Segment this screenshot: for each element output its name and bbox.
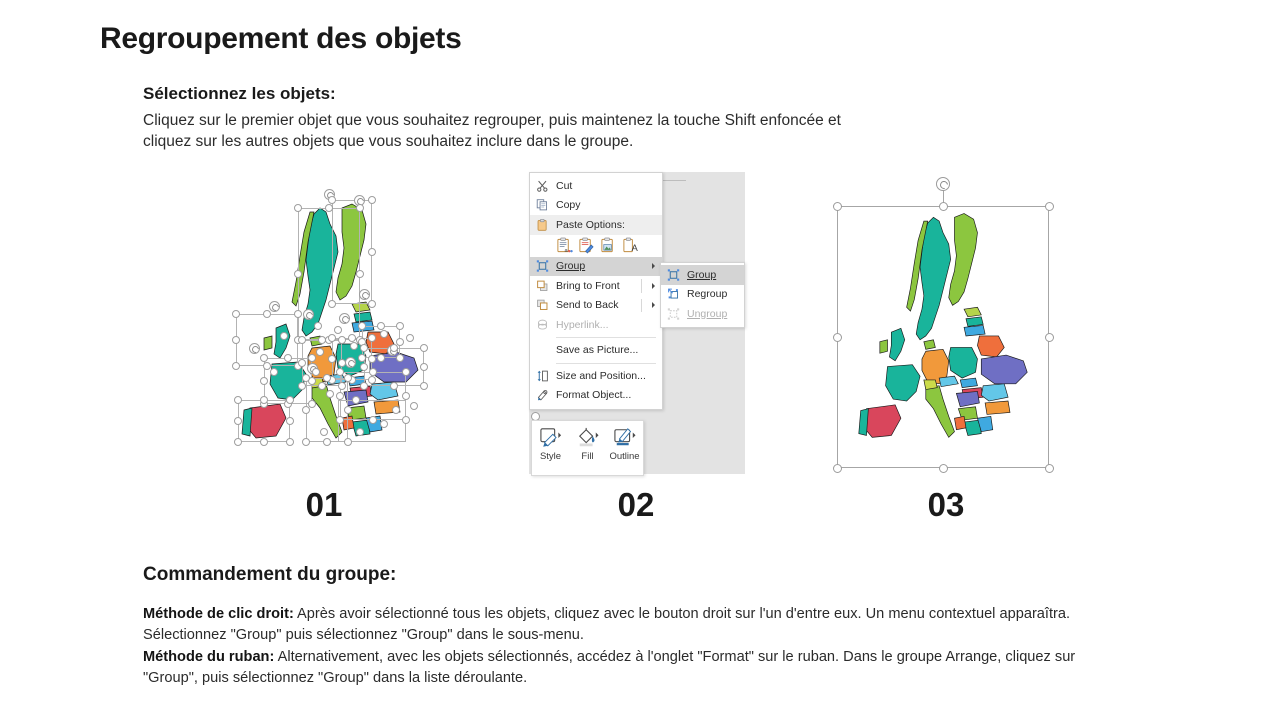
- selection-handle[interactable]: [356, 270, 364, 278]
- selection-handle[interactable]: [356, 204, 364, 212]
- selection-handle[interactable]: [334, 326, 342, 334]
- context-menu[interactable]: Cut Copy Paste: [529, 172, 663, 410]
- rotation-handle[interactable]: [269, 301, 280, 312]
- selection-handle[interactable]: [260, 396, 268, 404]
- mini-toolbar-style-button[interactable]: Style: [534, 426, 568, 462]
- step-number-03: 03: [906, 486, 986, 524]
- method-right-click-paragraph: Méthode de clic droit: Après avoir sélec…: [143, 604, 1118, 647]
- selection-handle[interactable]: [232, 310, 240, 318]
- selection-handle[interactable]: [402, 392, 410, 400]
- selection-handle[interactable]: [232, 362, 240, 370]
- selection-handle-bottom-right[interactable]: [1045, 464, 1054, 473]
- selection-handle[interactable]: [368, 248, 376, 256]
- method-ribbon-paragraph: Méthode du ruban: Alternativement, avec …: [143, 647, 1118, 690]
- selection-handle[interactable]: [260, 438, 268, 446]
- menu-separator: [556, 363, 656, 364]
- selection-handle[interactable]: [318, 382, 326, 390]
- selection-handle[interactable]: [420, 363, 428, 371]
- selection-handle[interactable]: [380, 330, 388, 338]
- menu-item-size-and-position[interactable]: Size and Position...: [530, 366, 662, 386]
- selection-handle[interactable]: [312, 368, 320, 376]
- method-block: Méthode de clic droit: Après avoir sélec…: [143, 604, 1118, 690]
- submenu-arrow-icon: [652, 302, 655, 308]
- selection-handle[interactable]: [420, 344, 428, 352]
- selection-handle-bottom-center[interactable]: [939, 464, 948, 473]
- selection-handle[interactable]: [302, 438, 310, 446]
- method-ribbon-text: Alternativement, avec les objets sélecti…: [143, 649, 1075, 686]
- menu-item-label: Save as Picture...: [556, 344, 638, 356]
- selection-handle[interactable]: [314, 322, 322, 330]
- submenu-item-regroup[interactable]: Regroup: [661, 285, 744, 305]
- paste-use-destination-theme-icon[interactable]: a: [556, 237, 573, 254]
- selection-handle-top-left[interactable]: [833, 202, 842, 211]
- selection-handle[interactable]: [352, 396, 360, 404]
- selection-handle[interactable]: [402, 416, 410, 424]
- bring-front-icon: [535, 278, 550, 293]
- selection-handle[interactable]: [360, 382, 368, 390]
- selection-handle[interactable]: [280, 332, 288, 340]
- menu-item-label: Hyperlink...: [556, 319, 609, 331]
- method-right-click-label: Méthode de clic droit:: [143, 606, 294, 622]
- selection-handle[interactable]: [260, 354, 268, 362]
- selection-handle[interactable]: [344, 374, 352, 382]
- selection-handle[interactable]: [368, 376, 376, 384]
- selection-handle[interactable]: [294, 270, 302, 278]
- selection-handle[interactable]: [410, 402, 418, 410]
- selection-handle[interactable]: [328, 334, 336, 342]
- selection-handle[interactable]: [338, 359, 346, 367]
- submenu-item-label: Ungroup: [687, 308, 727, 320]
- menu-item-label: Group: [556, 260, 585, 272]
- menu-item-format-object[interactable]: Format Object...: [530, 386, 662, 406]
- selection-handle[interactable]: [356, 428, 364, 436]
- selection-handle[interactable]: [368, 196, 376, 204]
- selection-handle[interactable]: [420, 382, 428, 390]
- menu-item-group[interactable]: Group: [530, 257, 662, 277]
- rotation-handle[interactable]: [359, 289, 370, 300]
- menu-item-label: Cut: [556, 180, 572, 192]
- step-01-ungrouped-map-panel[interactable]: [214, 186, 446, 476]
- selection-handle[interactable]: [284, 354, 292, 362]
- selection-handle[interactable]: [286, 438, 294, 446]
- selection-handle[interactable]: [390, 382, 398, 390]
- selection-handle[interactable]: [406, 334, 414, 342]
- select-objects-body: Cliquez sur le premier objet que vous so…: [143, 110, 843, 153]
- mini-toolbar-outline-button[interactable]: Outline: [608, 426, 642, 462]
- step-number-01: 01: [284, 486, 364, 524]
- menu-item-send-to-back[interactable]: Send to Back: [530, 296, 662, 316]
- fill-bucket-icon: [571, 426, 605, 450]
- selection-handle[interactable]: [234, 438, 242, 446]
- selection-handle[interactable]: [328, 355, 336, 363]
- selection-handle[interactable]: [358, 322, 366, 330]
- selection-handle-top-right[interactable]: [1045, 202, 1054, 211]
- selection-handle[interactable]: [326, 390, 334, 398]
- menu-divider: [641, 279, 642, 293]
- mini-toolbar-label: Fill: [571, 451, 605, 462]
- selection-handle[interactable]: [368, 355, 376, 363]
- rotation-handle[interactable]: [339, 313, 350, 324]
- selection-handle[interactable]: [336, 368, 344, 376]
- submenu-item-label: Group: [687, 269, 716, 281]
- svg-text:A: A: [631, 243, 638, 254]
- selection-handle[interactable]: [390, 344, 398, 352]
- menu-divider: [641, 299, 642, 313]
- selection-handle[interactable]: [298, 336, 306, 344]
- method-ribbon-label: Méthode du ruban:: [143, 649, 274, 665]
- menu-item-label: Bring to Front: [556, 280, 620, 292]
- selection-handle[interactable]: [302, 406, 310, 414]
- shape-style-icon: [534, 426, 568, 450]
- selection-handle[interactable]: [402, 368, 410, 376]
- selection-frame-fragment: [662, 180, 686, 181]
- selection-handle[interactable]: [270, 368, 278, 376]
- selection-handle-middle-right[interactable]: [1045, 333, 1054, 342]
- clipboard-icon: [535, 217, 550, 232]
- scissors-icon: [535, 178, 550, 193]
- selection-handle[interactable]: [369, 368, 377, 376]
- group-icon: [666, 267, 681, 282]
- paste-keep-source-formatting-icon[interactable]: [578, 237, 595, 254]
- selection-handle[interactable]: [328, 300, 336, 308]
- step-03-grouped-map-panel[interactable]: [832, 196, 1054, 474]
- selection-handle[interactable]: [234, 417, 242, 425]
- selection-handle[interactable]: [336, 416, 344, 424]
- selection-handle[interactable]: [328, 196, 336, 204]
- paste-options-row[interactable]: a: [530, 235, 662, 257]
- selection-handle[interactable]: [338, 336, 346, 344]
- regroup-icon: [666, 287, 681, 302]
- submenu-item-group[interactable]: Group: [661, 265, 744, 285]
- selection-handle[interactable]: [338, 382, 346, 390]
- mini-toolbar[interactable]: Style Fill: [531, 420, 644, 476]
- outline-pen-icon: [608, 426, 642, 450]
- selection-handle[interactable]: [348, 334, 356, 342]
- rotation-handle[interactable]: [345, 357, 356, 368]
- size-position-icon: [535, 368, 550, 383]
- selection-handle[interactable]: [298, 359, 306, 367]
- menu-item-label: Size and Position...: [556, 370, 646, 382]
- submenu-arrow-icon: [652, 283, 655, 289]
- selection-handle[interactable]: [368, 334, 376, 342]
- selection-handle[interactable]: [377, 322, 385, 330]
- rotation-handle[interactable]: [249, 343, 260, 354]
- menu-item-label: Paste Options:: [556, 219, 625, 231]
- selection-handle[interactable]: [260, 377, 268, 385]
- selection-handle[interactable]: [294, 310, 302, 318]
- group-icon: [535, 259, 550, 274]
- menu-separator: [556, 337, 656, 338]
- selection-handle[interactable]: [320, 428, 328, 436]
- selection-handle[interactable]: [286, 417, 294, 425]
- group-selection-frame: [837, 206, 1049, 468]
- send-back-icon: [535, 298, 550, 313]
- step-02-context-menu-panel: Cut Copy Paste: [529, 172, 745, 474]
- menu-item-save-as-picture[interactable]: Save as Picture...: [530, 341, 662, 361]
- selection-handle[interactable]: [380, 420, 388, 428]
- menu-item-hyperlink: Hyperlink...: [530, 315, 662, 335]
- selection-handle[interactable]: [263, 310, 271, 318]
- selection-handle[interactable]: [392, 406, 400, 414]
- mini-toolbar-label: Style: [534, 451, 568, 462]
- rotation-handle[interactable]: [303, 309, 314, 320]
- format-object-icon: [535, 388, 550, 403]
- mini-toolbar-label: Outline: [608, 451, 642, 462]
- selection-handle[interactable]: [308, 354, 316, 362]
- selection-handle[interactable]: [344, 406, 352, 414]
- selection-handle[interactable]: [298, 382, 306, 390]
- selection-handle[interactable]: [294, 204, 302, 212]
- selection-handle[interactable]: [302, 374, 310, 382]
- selection-handle[interactable]: [344, 438, 352, 446]
- page-title: Regroupement des objets: [100, 22, 462, 56]
- selection-handle[interactable]: [318, 336, 326, 344]
- mini-toolbar-fill-button[interactable]: Fill: [571, 426, 605, 462]
- menu-item-bring-to-front[interactable]: Bring to Front: [530, 276, 662, 296]
- hyperlink-icon: [535, 317, 550, 332]
- selection-handle[interactable]: [336, 392, 344, 400]
- selection-handle[interactable]: [369, 416, 377, 424]
- selection-handle[interactable]: [396, 354, 404, 362]
- selection-handle[interactable]: [360, 344, 368, 352]
- ungroup-icon: [666, 306, 681, 321]
- menu-item-label: Send to Back: [556, 299, 618, 311]
- paste-picture-icon[interactable]: [600, 237, 617, 254]
- paste-keep-text-only-icon[interactable]: A: [622, 237, 639, 254]
- submenu-arrow-icon: [652, 263, 655, 269]
- selection-handle[interactable]: [377, 354, 385, 362]
- submenu-item-ungroup: Ungroup: [661, 304, 744, 324]
- selection-handle[interactable]: [368, 300, 376, 308]
- menu-item-label: Copy: [556, 199, 581, 211]
- selection-handle[interactable]: [358, 354, 366, 362]
- selection-handle[interactable]: [234, 396, 242, 404]
- group-command-heading: Commandement du groupe:: [143, 564, 396, 586]
- copy-icon: [535, 198, 550, 213]
- menu-item-label: Format Object...: [556, 389, 631, 401]
- selection-handle-bottom-left[interactable]: [833, 464, 842, 473]
- submenu-item-label: Regroup: [687, 288, 727, 300]
- selection-handle-middle-left[interactable]: [833, 333, 842, 342]
- group-submenu[interactable]: Group Regroup: [660, 262, 745, 328]
- rotation-handle[interactable]: [936, 177, 950, 191]
- select-objects-heading: Sélectionnez les objets:: [143, 84, 336, 104]
- selection-handle[interactable]: [316, 348, 324, 356]
- selection-handle[interactable]: [286, 396, 294, 404]
- selection-handle-top-center[interactable]: [939, 202, 948, 211]
- selection-handle[interactable]: [323, 374, 331, 382]
- menu-item-copy[interactable]: Copy: [530, 196, 662, 216]
- step-number-02: 02: [596, 486, 676, 524]
- menu-item-paste-options: Paste Options:: [530, 215, 662, 235]
- menu-item-cut[interactable]: Cut: [530, 176, 662, 196]
- selection-handle[interactable]: [350, 342, 358, 350]
- selection-handle[interactable]: [323, 438, 331, 446]
- selection-handle[interactable]: [360, 363, 368, 371]
- selection-handle[interactable]: [396, 322, 404, 330]
- selection-handle[interactable]: [232, 336, 240, 344]
- selection-handle[interactable]: [325, 204, 333, 212]
